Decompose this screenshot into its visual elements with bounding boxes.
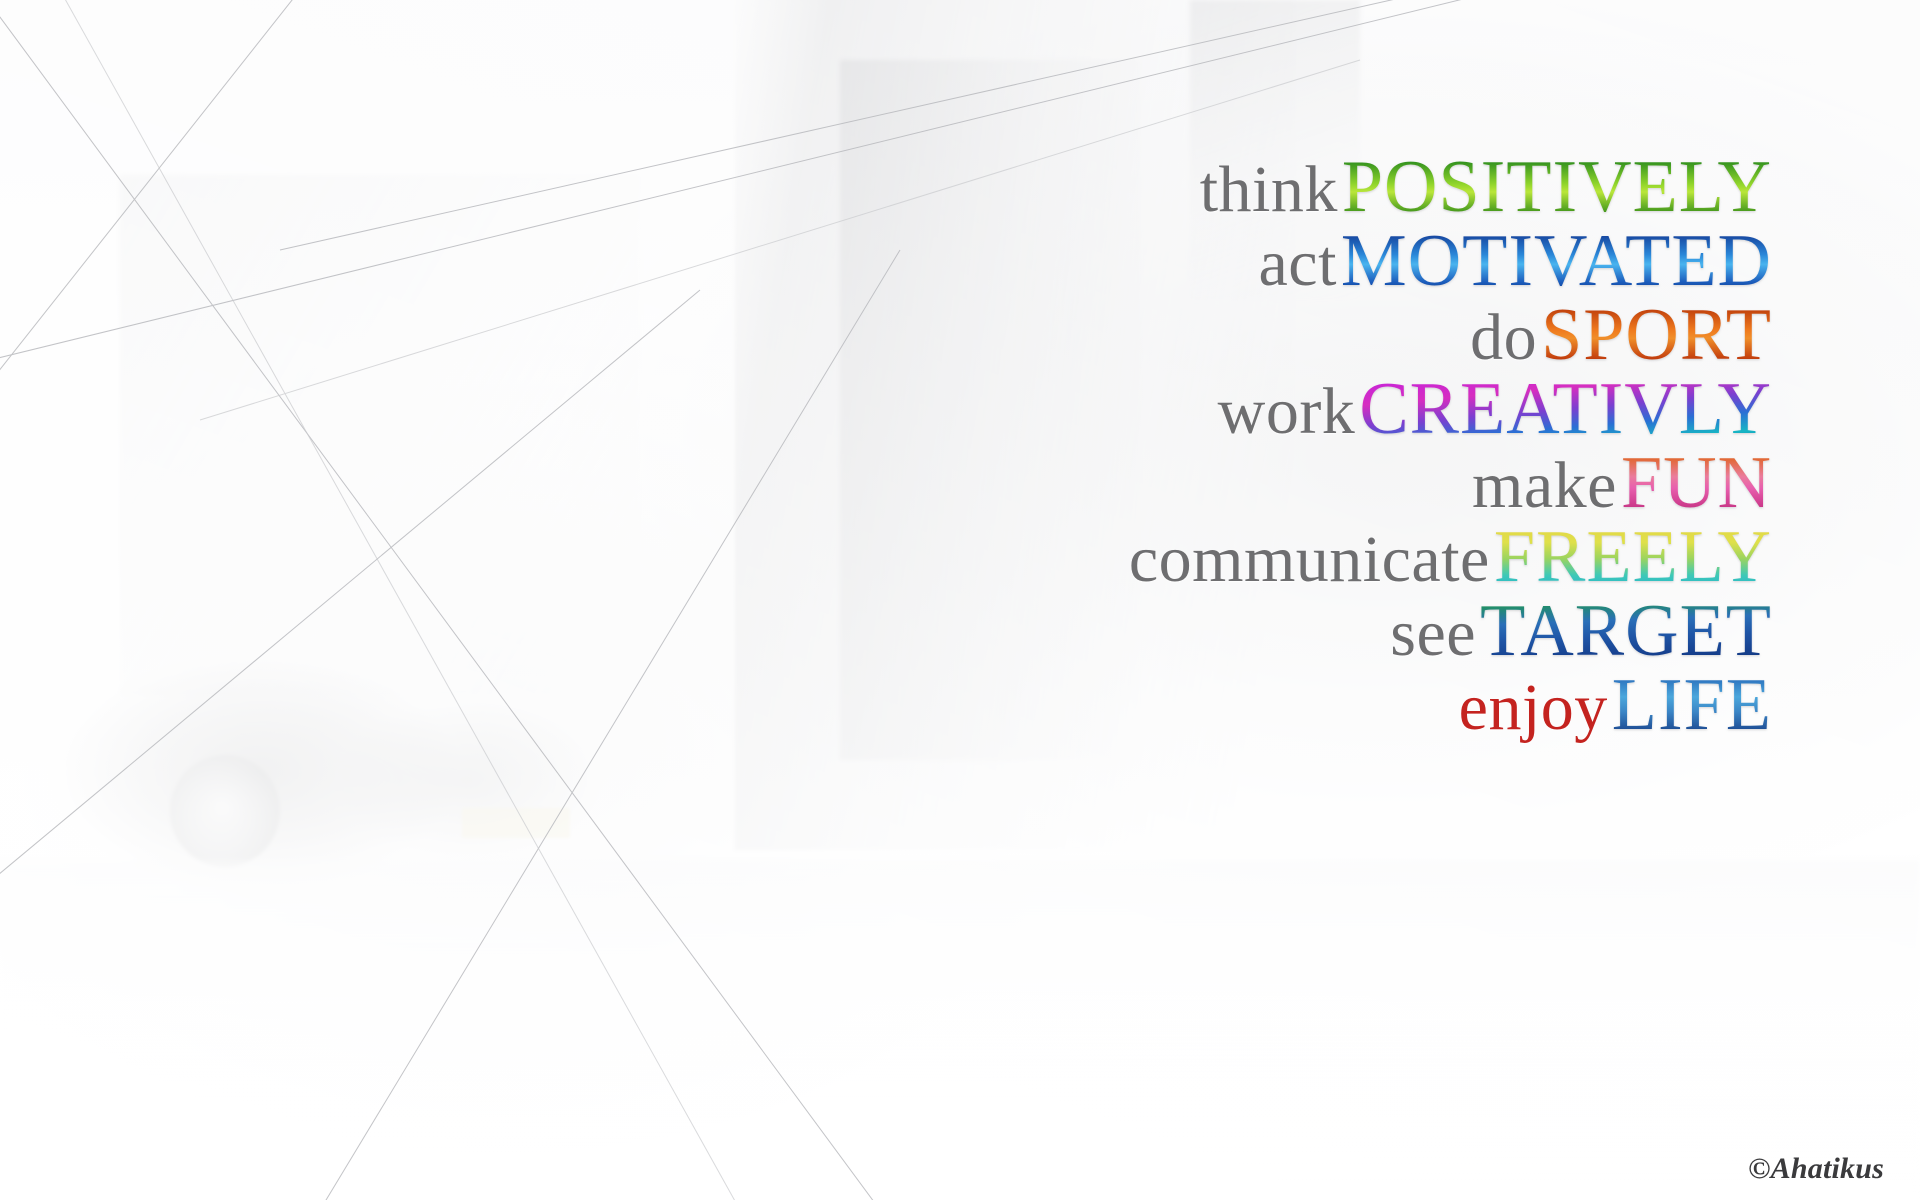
quote-line-see: see TARGET xyxy=(852,594,1772,668)
hairline-6 xyxy=(0,290,700,890)
quote-verb-think: think xyxy=(1200,153,1338,226)
quote-keyword-creativly: CREATIVLY xyxy=(1359,368,1772,450)
quote-keyword-positively: POSITIVELY xyxy=(1342,146,1772,228)
quote-line-enjoy: enjoy LIFE xyxy=(852,668,1772,742)
background-license-plate-shape xyxy=(462,808,570,838)
quote-verb-make: make xyxy=(1472,449,1617,522)
quote-line-do: do SPORT xyxy=(852,298,1772,372)
quote-keyword-freely: FREELY xyxy=(1494,516,1772,598)
quote-keyword-motivated: MOTIVATED xyxy=(1341,220,1772,302)
quote-line-act: act MOTIVATED xyxy=(852,224,1772,298)
quote-verb-see: see xyxy=(1390,597,1476,670)
quote-verb-do: do xyxy=(1470,301,1537,374)
quote-block: think POSITIVELY act MOTIVATED do SPORT … xyxy=(852,150,1772,742)
quote-verb-communicate: communicate xyxy=(1129,523,1490,596)
quote-line-communicate: communicate FREELY xyxy=(852,520,1772,594)
quote-keyword-life: LIFE xyxy=(1612,664,1772,746)
hairline-5 xyxy=(320,250,900,1200)
quote-line-think: think POSITIVELY xyxy=(852,150,1772,224)
quote-verb-enjoy: enjoy xyxy=(1459,671,1608,744)
hairline-7 xyxy=(60,0,740,1200)
background-house-shape xyxy=(120,175,640,695)
quote-verb-act: act xyxy=(1258,227,1336,300)
quote-keyword-sport: SPORT xyxy=(1541,294,1772,376)
quote-line-make: make FUN xyxy=(852,446,1772,520)
background-ground-shape xyxy=(0,860,1920,1200)
quote-keyword-target: TARGET xyxy=(1480,590,1772,672)
poster-canvas: think POSITIVELY act MOTIVATED do SPORT … xyxy=(0,0,1920,1200)
copyright-watermark: ©Ahatikus xyxy=(1748,1152,1884,1186)
quote-verb-work: work xyxy=(1218,375,1356,448)
quote-keyword-fun: FUN xyxy=(1621,442,1772,524)
quote-line-work: work CREATIVLY xyxy=(852,372,1772,446)
hairline-2 xyxy=(0,0,300,420)
hairline-1 xyxy=(0,0,880,1200)
background-car-shape xyxy=(20,630,640,890)
background-car-wheel-shape xyxy=(170,755,280,867)
